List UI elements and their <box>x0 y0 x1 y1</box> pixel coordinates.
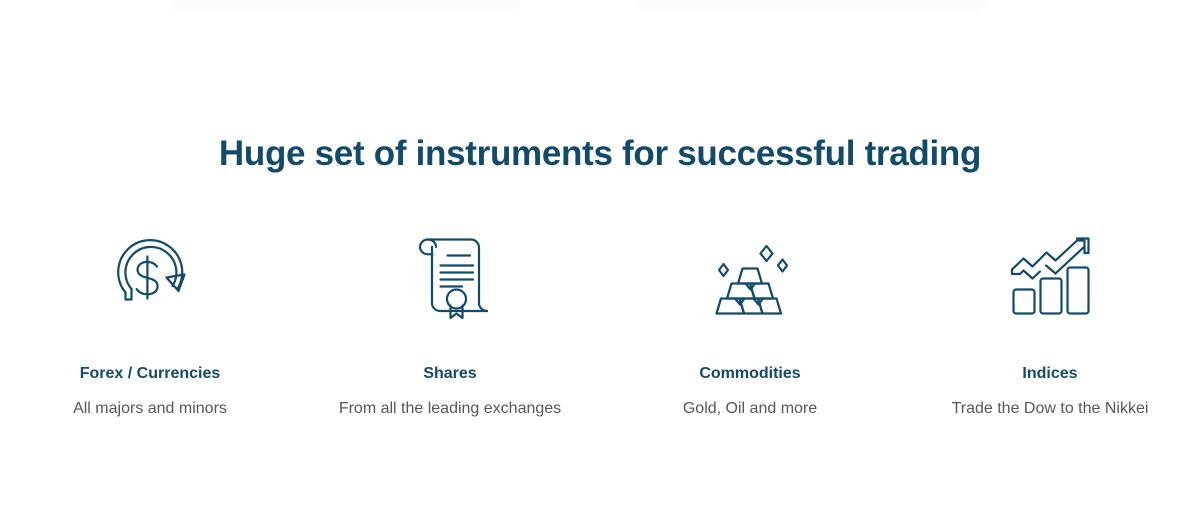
feature-item-shares[interactable]: Shares From all the leading exchanges <box>300 225 600 419</box>
feature-description: Trade the Dow to the Nikkei <box>952 399 1149 419</box>
feature-title: Shares <box>423 364 476 384</box>
feature-list: Forex / Currencies All majors and minors <box>0 225 1200 419</box>
previous-section-bleed <box>0 0 1200 14</box>
feature-title: Commodities <box>699 364 800 384</box>
feature-item-commodities[interactable]: Commodities Gold, Oil and more <box>600 225 900 419</box>
bar-chart-uptrend-icon <box>998 225 1102 329</box>
feature-description: From all the leading exchanges <box>339 399 561 419</box>
instruments-section: Huge set of instruments for successful t… <box>0 0 1200 505</box>
certificate-scroll-icon <box>398 225 502 329</box>
feature-description: Gold, Oil and more <box>683 399 817 419</box>
section-heading: Huge set of instruments for successful t… <box>0 130 1200 178</box>
gold-bars-icon <box>698 225 802 329</box>
feature-title: Forex / Currencies <box>80 364 221 384</box>
bleed-card-left <box>170 0 520 12</box>
feature-description: All majors and minors <box>73 399 227 419</box>
currency-circular-arrow-icon <box>98 225 202 329</box>
bleed-card-right <box>636 0 986 12</box>
feature-title: Indices <box>1022 364 1077 384</box>
feature-item-indices[interactable]: Indices Trade the Dow to the Nikkei <box>900 225 1200 419</box>
feature-item-forex[interactable]: Forex / Currencies All majors and minors <box>0 225 300 419</box>
